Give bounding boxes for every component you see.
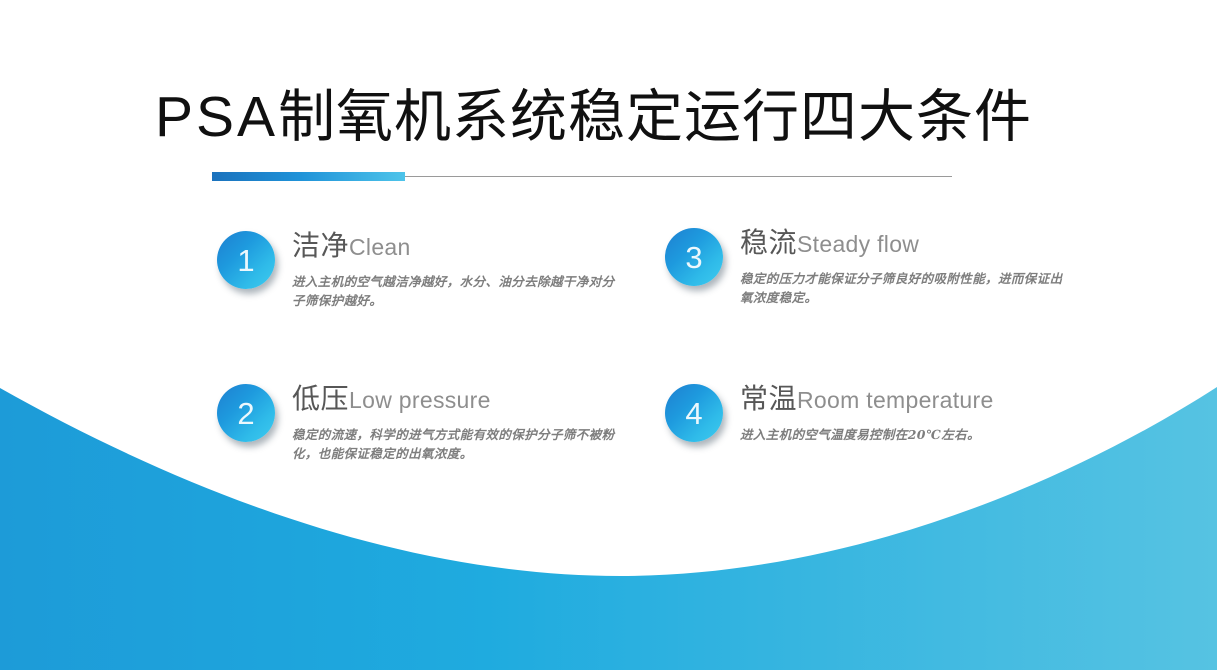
item-heading: 稳流Steady flow: [740, 229, 1095, 263]
items-grid: 1 洁净Clean 进入主机的空气越洁净越好，水分、油分去除越干净对分子筛保护越…: [0, 0, 1217, 670]
list-item[interactable]: 3 稳流Steady flow 稳定的压力才能保证分子筛良好的吸附性能，进而保证…: [665, 228, 1095, 307]
list-item[interactable]: 2 低压Low pressure 稳定的流速，科学的进气方式能有效的保护分子筛不…: [217, 384, 647, 463]
item-text-block: 稳流Steady flow 稳定的压力才能保证分子筛良好的吸附性能，进而保证出氧…: [740, 228, 1095, 307]
item-heading-cn: 稳流: [740, 228, 797, 259]
item-description: 进入主机的空气温度易控制在20℃左右。: [740, 425, 1080, 444]
item-heading: 低压Low pressure: [292, 385, 647, 419]
item-text-block: 常温Room temperature 进入主机的空气温度易控制在20℃左右。: [740, 384, 1105, 444]
item-heading-cn: 低压: [292, 384, 349, 415]
item-number-badge: 2: [217, 384, 275, 442]
item-heading-en: Room temperature: [797, 387, 994, 413]
item-heading: 常温Room temperature: [740, 385, 1105, 419]
list-item[interactable]: 4 常温Room temperature 进入主机的空气温度易控制在20℃左右。: [665, 384, 1105, 444]
item-heading: 洁净Clean: [292, 232, 637, 266]
item-text-block: 低压Low pressure 稳定的流速，科学的进气方式能有效的保护分子筛不被粉…: [292, 384, 647, 463]
item-heading-en: Steady flow: [797, 231, 919, 257]
item-description: 稳定的压力才能保证分子筛良好的吸附性能，进而保证出氧浓度稳定。: [740, 269, 1070, 307]
item-description: 进入主机的空气越洁净越好，水分、油分去除越干净对分子筛保护越好。: [292, 272, 622, 310]
item-heading-cn: 常温: [740, 384, 797, 415]
item-heading-cn: 洁净: [292, 231, 349, 262]
item-number-badge: 1: [217, 231, 275, 289]
badge-number-label: 2: [237, 398, 254, 429]
item-heading-en: Low pressure: [349, 387, 491, 413]
badge-number-label: 3: [685, 242, 702, 273]
item-description: 稳定的流速，科学的进气方式能有效的保护分子筛不被粉化，也能保证稳定的出氧浓度。: [292, 425, 622, 463]
item-heading-en: Clean: [349, 234, 411, 260]
item-number-badge: 3: [665, 228, 723, 286]
badge-number-label: 4: [685, 398, 702, 429]
badge-number-label: 1: [237, 245, 254, 276]
item-number-badge: 4: [665, 384, 723, 442]
slide-canvas: PSA制氧机系统稳定运行四大条件 1 洁净Clean 进入主机的空气越洁净越好，…: [0, 0, 1217, 670]
list-item[interactable]: 1 洁净Clean 进入主机的空气越洁净越好，水分、油分去除越干净对分子筛保护越…: [217, 231, 637, 310]
item-text-block: 洁净Clean 进入主机的空气越洁净越好，水分、油分去除越干净对分子筛保护越好。: [292, 231, 637, 310]
